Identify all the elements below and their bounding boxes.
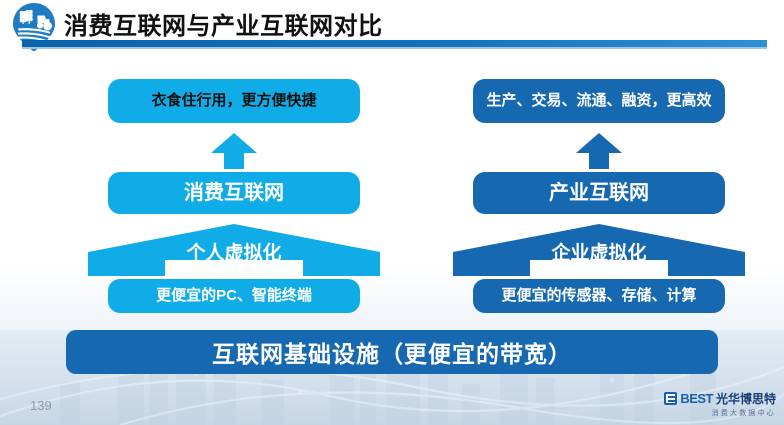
infrastructure-pill: 更便宜的PC、智能终端 (108, 279, 360, 313)
layer-name-pill: 产业互联网 (473, 172, 725, 214)
brand-cn-name: 光华博思特 (716, 390, 776, 407)
header-rule-thin (22, 47, 767, 49)
brand-subtitle: 消费大数据中心 (656, 408, 776, 418)
page-number: 139 (30, 398, 52, 413)
slide-canvas: 消费互联网与产业互联网对比 衣食住行用，更方便快捷 消费互联网 个人虚拟化 更便… (0, 0, 784, 425)
outcome-pill: 生产、交易、流通、融资，更高效 (473, 79, 725, 123)
up-arrow-icon (211, 133, 257, 169)
layer-name-pill: 消费互联网 (108, 172, 360, 214)
infrastructure-pill: 更便宜的传感器、存储、计算 (473, 279, 725, 313)
best-logo-icon (664, 392, 677, 405)
base-infrastructure-bar: 互联网基础设施（更便宜的带宽） (66, 330, 718, 374)
brand-logo: BEST 光华博思特 消费大数据中心 (656, 390, 776, 420)
virtualization-roof-shape (88, 224, 380, 276)
up-arrow-icon (576, 133, 622, 169)
virtualization-roof-shape (453, 224, 745, 276)
outcome-pill: 衣食住行用，更方便快捷 (108, 79, 360, 123)
header-rule (22, 40, 767, 47)
brand-latin-name: BEST (680, 391, 713, 406)
page-title: 消费互联网与产业互联网对比 (64, 6, 383, 41)
slide-header: 消费互联网与产业互联网对比 (0, 0, 784, 52)
